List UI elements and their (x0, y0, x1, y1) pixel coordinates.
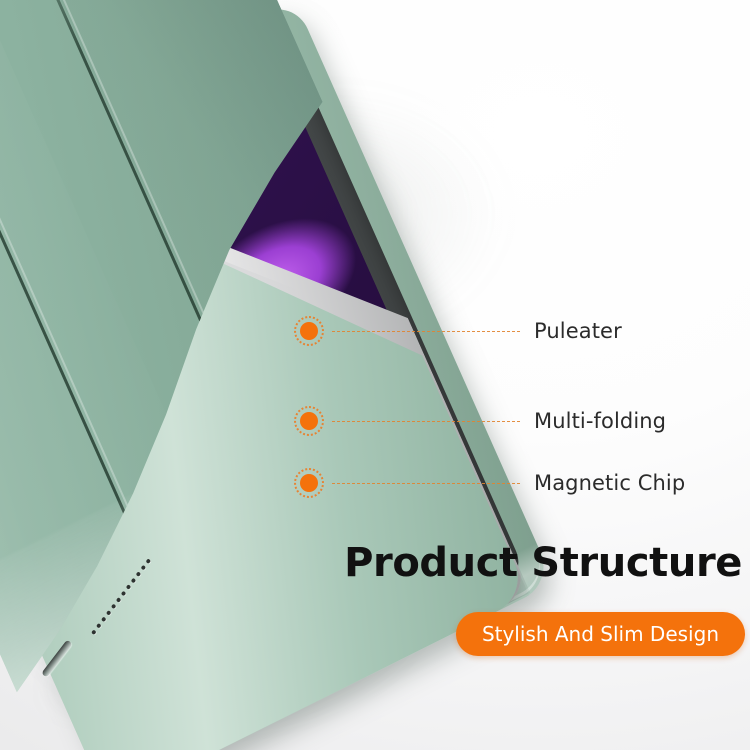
page-title: Product Structure (344, 540, 742, 586)
callout-marker-icon (294, 316, 324, 346)
product-structure-banner: Puleater Multi-folding Magnetic Chip Pro… (0, 0, 750, 750)
callout-multi-folding: Multi-folding (294, 406, 666, 436)
marker-core (300, 322, 318, 340)
callout-magnetic-chip: Magnetic Chip (294, 468, 685, 498)
tagline-badge: Stylish And Slim Design (456, 612, 745, 656)
callout-label-puleater: Puleater (534, 319, 622, 343)
leader-line (332, 331, 520, 332)
callout-label-magnetic-chip: Magnetic Chip (534, 471, 685, 495)
leader-line (332, 483, 520, 484)
callout-marker-icon (294, 468, 324, 498)
marker-core (300, 412, 318, 430)
callout-label-multi-folding: Multi-folding (534, 409, 666, 433)
callout-puleater: Puleater (294, 316, 622, 346)
marker-core (300, 474, 318, 492)
callout-marker-icon (294, 406, 324, 436)
leader-line (332, 421, 520, 422)
